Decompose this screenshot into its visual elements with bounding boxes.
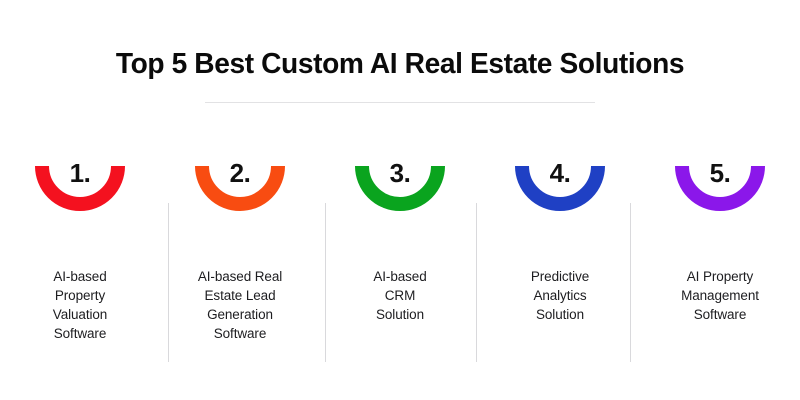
solution-caption-5: AI Property Management Software (650, 267, 790, 324)
rank-arc-wrap-3: 3. (348, 158, 452, 222)
rank-arc-wrap-5: 5. (668, 158, 772, 222)
rank-number-3: 3. (348, 160, 452, 186)
solution-item-5: 5. AI Property Management Software (640, 150, 800, 370)
title-divider (205, 102, 595, 103)
solution-caption-2: AI-based Real Estate Lead Generation Sof… (170, 267, 310, 343)
rank-arc-wrap-4: 4. (508, 158, 612, 222)
solution-item-4: 4. Predictive Analytics Solution (480, 150, 640, 370)
solution-item-2: 2. AI-based Real Estate Lead Generation … (160, 150, 320, 370)
solution-caption-1: AI-based Property Valuation Software (10, 267, 150, 343)
solution-caption-4: Predictive Analytics Solution (490, 267, 630, 324)
solution-item-1: 1. AI-based Property Valuation Software (0, 150, 160, 370)
rank-number-1: 1. (28, 160, 132, 186)
solution-item-3: 3. AI-based CRM Solution (320, 150, 480, 370)
rank-number-2: 2. (188, 160, 292, 186)
rank-arc-wrap-2: 2. (188, 158, 292, 222)
page-title: Top 5 Best Custom AI Real Estate Solutio… (12, 48, 788, 81)
solution-caption-3: AI-based CRM Solution (330, 267, 470, 324)
rank-number-4: 4. (508, 160, 612, 186)
solutions-list: 1. AI-based Property Valuation Software … (0, 150, 800, 370)
rank-arc-wrap-1: 1. (28, 158, 132, 222)
rank-number-5: 5. (668, 160, 772, 186)
infographic-canvas: Top 5 Best Custom AI Real Estate Solutio… (0, 0, 800, 400)
